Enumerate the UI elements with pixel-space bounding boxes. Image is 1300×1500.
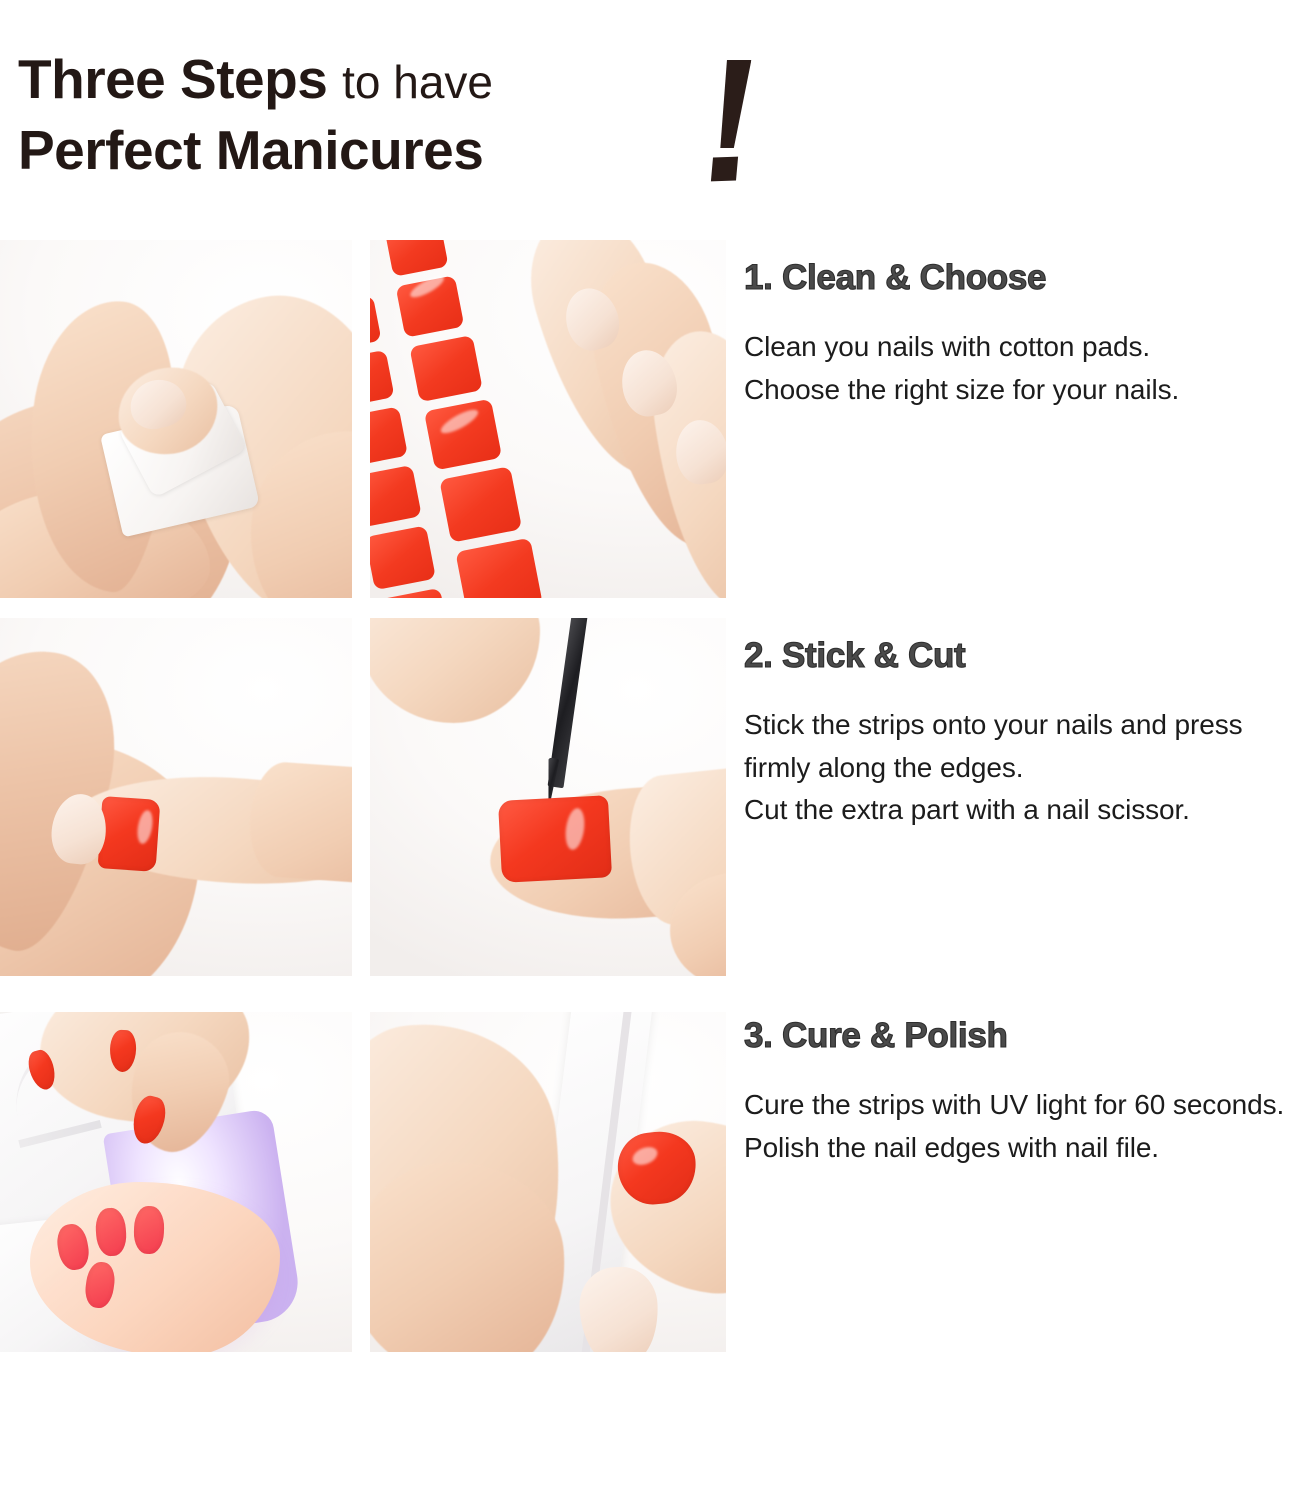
step-1: 1. Clean & Choose Clean you nails with c… xyxy=(744,258,1292,411)
photo-step2-cut xyxy=(370,618,726,976)
applied-red-strip xyxy=(98,796,161,872)
exclamation-dot xyxy=(711,157,738,182)
step-2: 2. Stick & Cut Stick the strips onto you… xyxy=(744,636,1292,832)
page-title-line-2: Perfect Manicures xyxy=(18,123,778,178)
step-1-body: Clean you nails with cotton pads. Choose… xyxy=(744,326,1292,411)
page-title-light-1: to have xyxy=(342,56,493,108)
step-2-heading: 2. Stick & Cut xyxy=(744,636,1292,676)
step-2-body: Stick the strips onto your nails and pre… xyxy=(744,704,1292,832)
photo-row-step-1 xyxy=(0,240,726,598)
photo-step1-clean xyxy=(0,240,352,598)
exclamation-stem xyxy=(715,60,752,148)
photo-step2-stick xyxy=(0,618,352,976)
page-title-strong-1: Three Steps xyxy=(18,48,327,110)
red-strip-extra xyxy=(498,795,612,883)
page-title-line-1: Three Steps to have xyxy=(18,52,778,107)
photo-step3-polish xyxy=(370,1012,726,1352)
step-3-heading: 3. Cure & Polish xyxy=(744,1016,1292,1056)
photo-row-step-3 xyxy=(0,1012,726,1352)
step-3: 3. Cure & Polish Cure the strips with UV… xyxy=(744,1016,1292,1169)
page-title-strong-2: Perfect Manicures xyxy=(18,119,483,181)
photo-step3-cure xyxy=(0,1012,352,1352)
step-3-body: Cure the strips with UV light for 60 sec… xyxy=(744,1084,1292,1169)
photo-grid xyxy=(0,240,726,1352)
page-header: Three Steps to have Perfect Manicures xyxy=(18,52,778,202)
photo-row-step-2 xyxy=(0,618,726,976)
photo-step1-choose xyxy=(370,240,726,598)
exclamation-mark-icon xyxy=(700,60,770,190)
step-1-heading: 1. Clean & Choose xyxy=(744,258,1292,298)
